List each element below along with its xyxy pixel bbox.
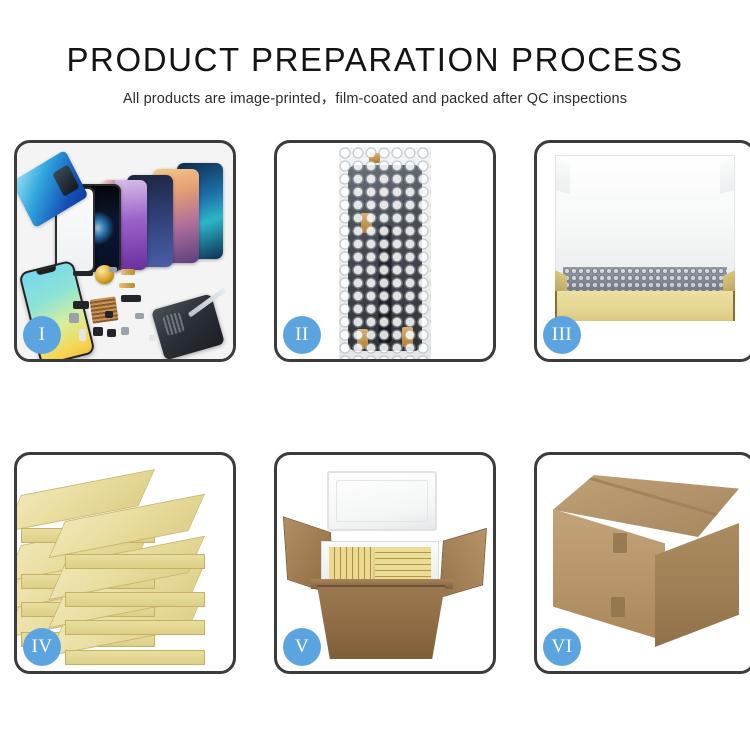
header: PRODUCT PREPARATION PROCESS All products… (0, 40, 750, 109)
step-badge-5: V (283, 628, 321, 666)
spare-part-icon (69, 313, 79, 323)
sealed-carton-icon (553, 475, 739, 653)
bubble-wrap-fill-icon (563, 267, 727, 293)
bubble-wrap-bag-icon (339, 147, 431, 359)
box-front-face (65, 592, 205, 607)
step-badge-2: II (283, 316, 321, 354)
box-lid-icon (555, 155, 735, 273)
flex-cable-icon (379, 225, 392, 343)
spare-part-icon (79, 329, 86, 341)
step-badge-6: VI (543, 628, 581, 666)
spare-part-icon (93, 327, 103, 336)
spare-part-icon (121, 327, 129, 335)
box-front-face (65, 620, 205, 635)
lid-flap-right (720, 158, 734, 193)
step-panel-3: III (534, 140, 750, 362)
carton-body (317, 585, 445, 659)
box-front-face (65, 650, 205, 665)
spare-part-icon (121, 295, 141, 302)
chip-array-part-icon (89, 296, 118, 323)
carton-tape-seam (581, 474, 718, 516)
adhesive-tab-icon (369, 153, 380, 163)
carton-tape-patch (613, 533, 627, 553)
step-panel-1: I (14, 140, 236, 362)
step-panel-2: II (274, 140, 496, 362)
page-title: PRODUCT PREPARATION PROCESS (0, 40, 750, 80)
product-preparation-infographic: PRODUCT PREPARATION PROCESS All products… (0, 0, 750, 750)
adhesive-tab-icon (402, 327, 413, 347)
spare-part-icon (73, 301, 89, 309)
step-panel-4: Mobile Phone Spare Parts Mobile Phone Sp… (14, 452, 236, 674)
carton-left-face (553, 509, 665, 641)
spare-part-icon (109, 267, 117, 272)
open-flat-box-icon (545, 155, 745, 335)
spare-part-icon (73, 271, 93, 276)
adhesive-tab-icon (361, 213, 372, 233)
step-badge-3: III (543, 316, 581, 354)
carton-right-face (655, 523, 739, 647)
spare-part-icon (107, 329, 116, 337)
spare-part-icon (135, 313, 144, 319)
stacked-box-printed (65, 521, 205, 569)
adhesive-tab-icon (357, 329, 368, 349)
page-subtitle: All products are image-printed，film-coat… (0, 89, 750, 109)
stacked-box (65, 563, 205, 607)
foam-lid-icon (327, 471, 437, 531)
process-step-grid: I II (14, 140, 736, 674)
carton-tape-patch (611, 597, 625, 617)
spare-part-icon (105, 311, 113, 318)
step-badge-1: I (23, 316, 61, 354)
lid-flap-left (556, 158, 570, 193)
step-panel-6: VI (534, 452, 750, 674)
spare-part-icon (149, 335, 155, 341)
box-front-panel (555, 291, 735, 321)
spare-part-icon (119, 283, 135, 288)
step-badge-4: IV (23, 628, 61, 666)
step-panel-5: V (274, 452, 496, 674)
box-front-face (65, 554, 205, 569)
spare-part-icon (121, 269, 135, 275)
